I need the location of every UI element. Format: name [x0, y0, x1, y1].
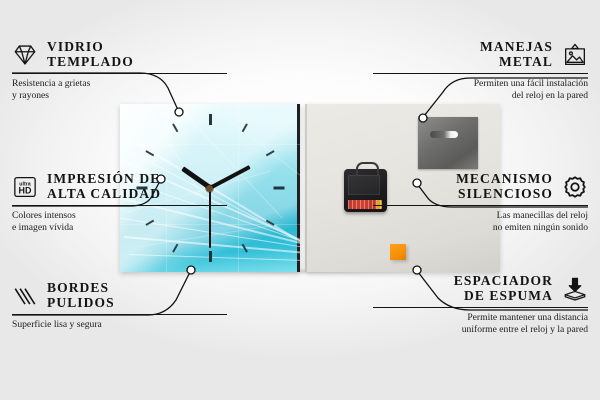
callout-manejas-metal[interactable]: MANEJAS METAL Permiten una fácil instala… [373, 40, 588, 101]
callout-title: VIDRIO TEMPLADO [47, 40, 134, 69]
gear-icon [562, 174, 588, 200]
callout-espaciador-espuma[interactable]: ESPACIADOR DE ESPUMA Permite mantener un… [373, 274, 588, 335]
callout-subtitle: Superficie lisa y segura [12, 319, 227, 331]
callout-rule [12, 73, 227, 74]
callout-vidrio-templado[interactable]: VIDRIO TEMPLADO Resistencia a grietas y … [12, 40, 227, 101]
callout-header: ultra HD IMPRESIÓN DE ALTA CALIDAD [12, 172, 227, 201]
callout-impresion-alta-calidad[interactable]: ultra HD IMPRESIÓN DE ALTA CALIDAD Color… [12, 172, 227, 233]
callout-header: MECANISMO SILENCIOSO [373, 172, 588, 201]
callout-header: BORDES PULIDOS [12, 281, 227, 310]
callout-rule [12, 314, 227, 315]
callout-bordes-pulidos[interactable]: BORDES PULIDOS Superficie lisa y segura [12, 281, 227, 331]
callout-rule [373, 307, 588, 308]
callout-title: MANEJAS METAL [480, 40, 553, 69]
callout-subtitle: Las manecillas del reloj no emiten ningú… [373, 210, 588, 233]
callout-rule [373, 205, 588, 206]
callout-subtitle: Permite mantener una distancia uniforme … [373, 312, 588, 335]
callout-subtitle: Resistencia a grietas y rayones [12, 78, 227, 101]
callout-rule [373, 73, 588, 74]
callout-header: MANEJAS METAL [373, 40, 588, 69]
ultra-hd-icon: ultra HD [12, 174, 38, 200]
callout-title: BORDES PULIDOS [47, 281, 115, 310]
callout-title: MECANISMO SILENCIOSO [456, 172, 553, 201]
callout-title: ESPACIADOR DE ESPUMA [454, 274, 553, 303]
ultra-hd-icon-large-text: HD [19, 185, 32, 195]
infographic-canvas: VIDRIO TEMPLADO Resistencia a grietas y … [0, 0, 600, 400]
callout-subtitle: Permiten una fácil instalación del reloj… [373, 78, 588, 101]
callout-header: VIDRIO TEMPLADO [12, 40, 227, 69]
foam-spacer-icon [562, 276, 588, 302]
polished-edges-icon [12, 283, 38, 309]
callout-rule [12, 205, 227, 206]
diamond-icon [12, 42, 38, 68]
wall-frame-icon [562, 42, 588, 68]
callout-subtitle: Colores intensos e imagen vívida [12, 210, 227, 233]
callout-mecanismo-silencioso[interactable]: MECANISMO SILENCIOSO Las manecillas del … [373, 172, 588, 233]
callout-title: IMPRESIÓN DE ALTA CALIDAD [47, 172, 161, 201]
callout-header: ESPACIADOR DE ESPUMA [373, 274, 588, 303]
